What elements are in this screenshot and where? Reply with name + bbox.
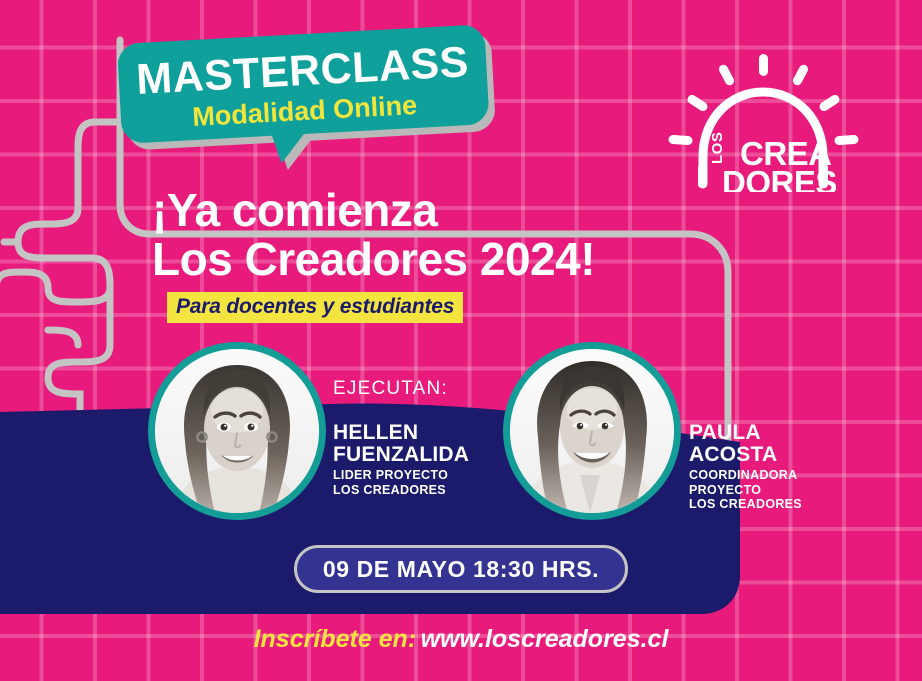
date-pill: 09 DE MAYO 18:30 HRS. — [294, 545, 628, 593]
footer-url[interactable]: www.loscreadores.cl — [421, 625, 669, 653]
presenter-1-role: LIDER PROYECTO LOS CREADORES — [333, 468, 469, 497]
presenter-2-avatar — [503, 342, 681, 520]
logo-text-los: LOS — [709, 132, 726, 164]
presenter-1-photo — [155, 349, 319, 513]
headline: ¡Ya comienza Los Creadores 2024! — [152, 186, 595, 284]
badge-shape — [117, 24, 491, 172]
presenter-1-name: HELLEN FUENZALIDA — [333, 422, 469, 465]
footer-cta: Inscríbete en: www.loscreadores.cl — [0, 625, 922, 654]
presenters-label: EJECUTAN: — [333, 378, 448, 400]
logo-rays — [668, 54, 859, 145]
poster-canvas: MASTERCLASS Modalidad Online ¡Ya comienz… — [0, 0, 922, 681]
presenter-2-name: PAULA ACOSTA — [689, 422, 802, 465]
masterclass-badge: MASTERCLASS Modalidad Online — [117, 24, 491, 172]
los-creadores-logo: LOS CREA DORES — [665, 52, 861, 192]
presenter-2-role: COORDINADORA PROYECTO LOS CREADORES — [689, 468, 802, 512]
headline-subtitle: Para docentes y estudiantes — [176, 295, 454, 319]
presenter-1-info: HELLEN FUENZALIDA LIDER PROYECTO LOS CRE… — [333, 422, 469, 497]
logo-wordmark: LOS CREA DORES — [709, 132, 837, 192]
headline-line-1: ¡Ya comienza — [152, 186, 595, 235]
date-pill-text: 09 DE MAYO 18:30 HRS. — [323, 556, 599, 583]
footer-cta-label: Inscríbete en: — [254, 625, 417, 653]
presenter-2-info: PAULA ACOSTA COORDINADORA PROYECTO LOS C… — [689, 422, 802, 512]
presenter-1-avatar — [148, 342, 326, 520]
headline-line-2: Los Creadores 2024! — [152, 235, 595, 284]
headline-subtitle-highlight: Para docentes y estudiantes — [167, 292, 463, 323]
logo-text-dores: DORES — [722, 164, 837, 192]
presenter-2-photo — [510, 349, 674, 513]
